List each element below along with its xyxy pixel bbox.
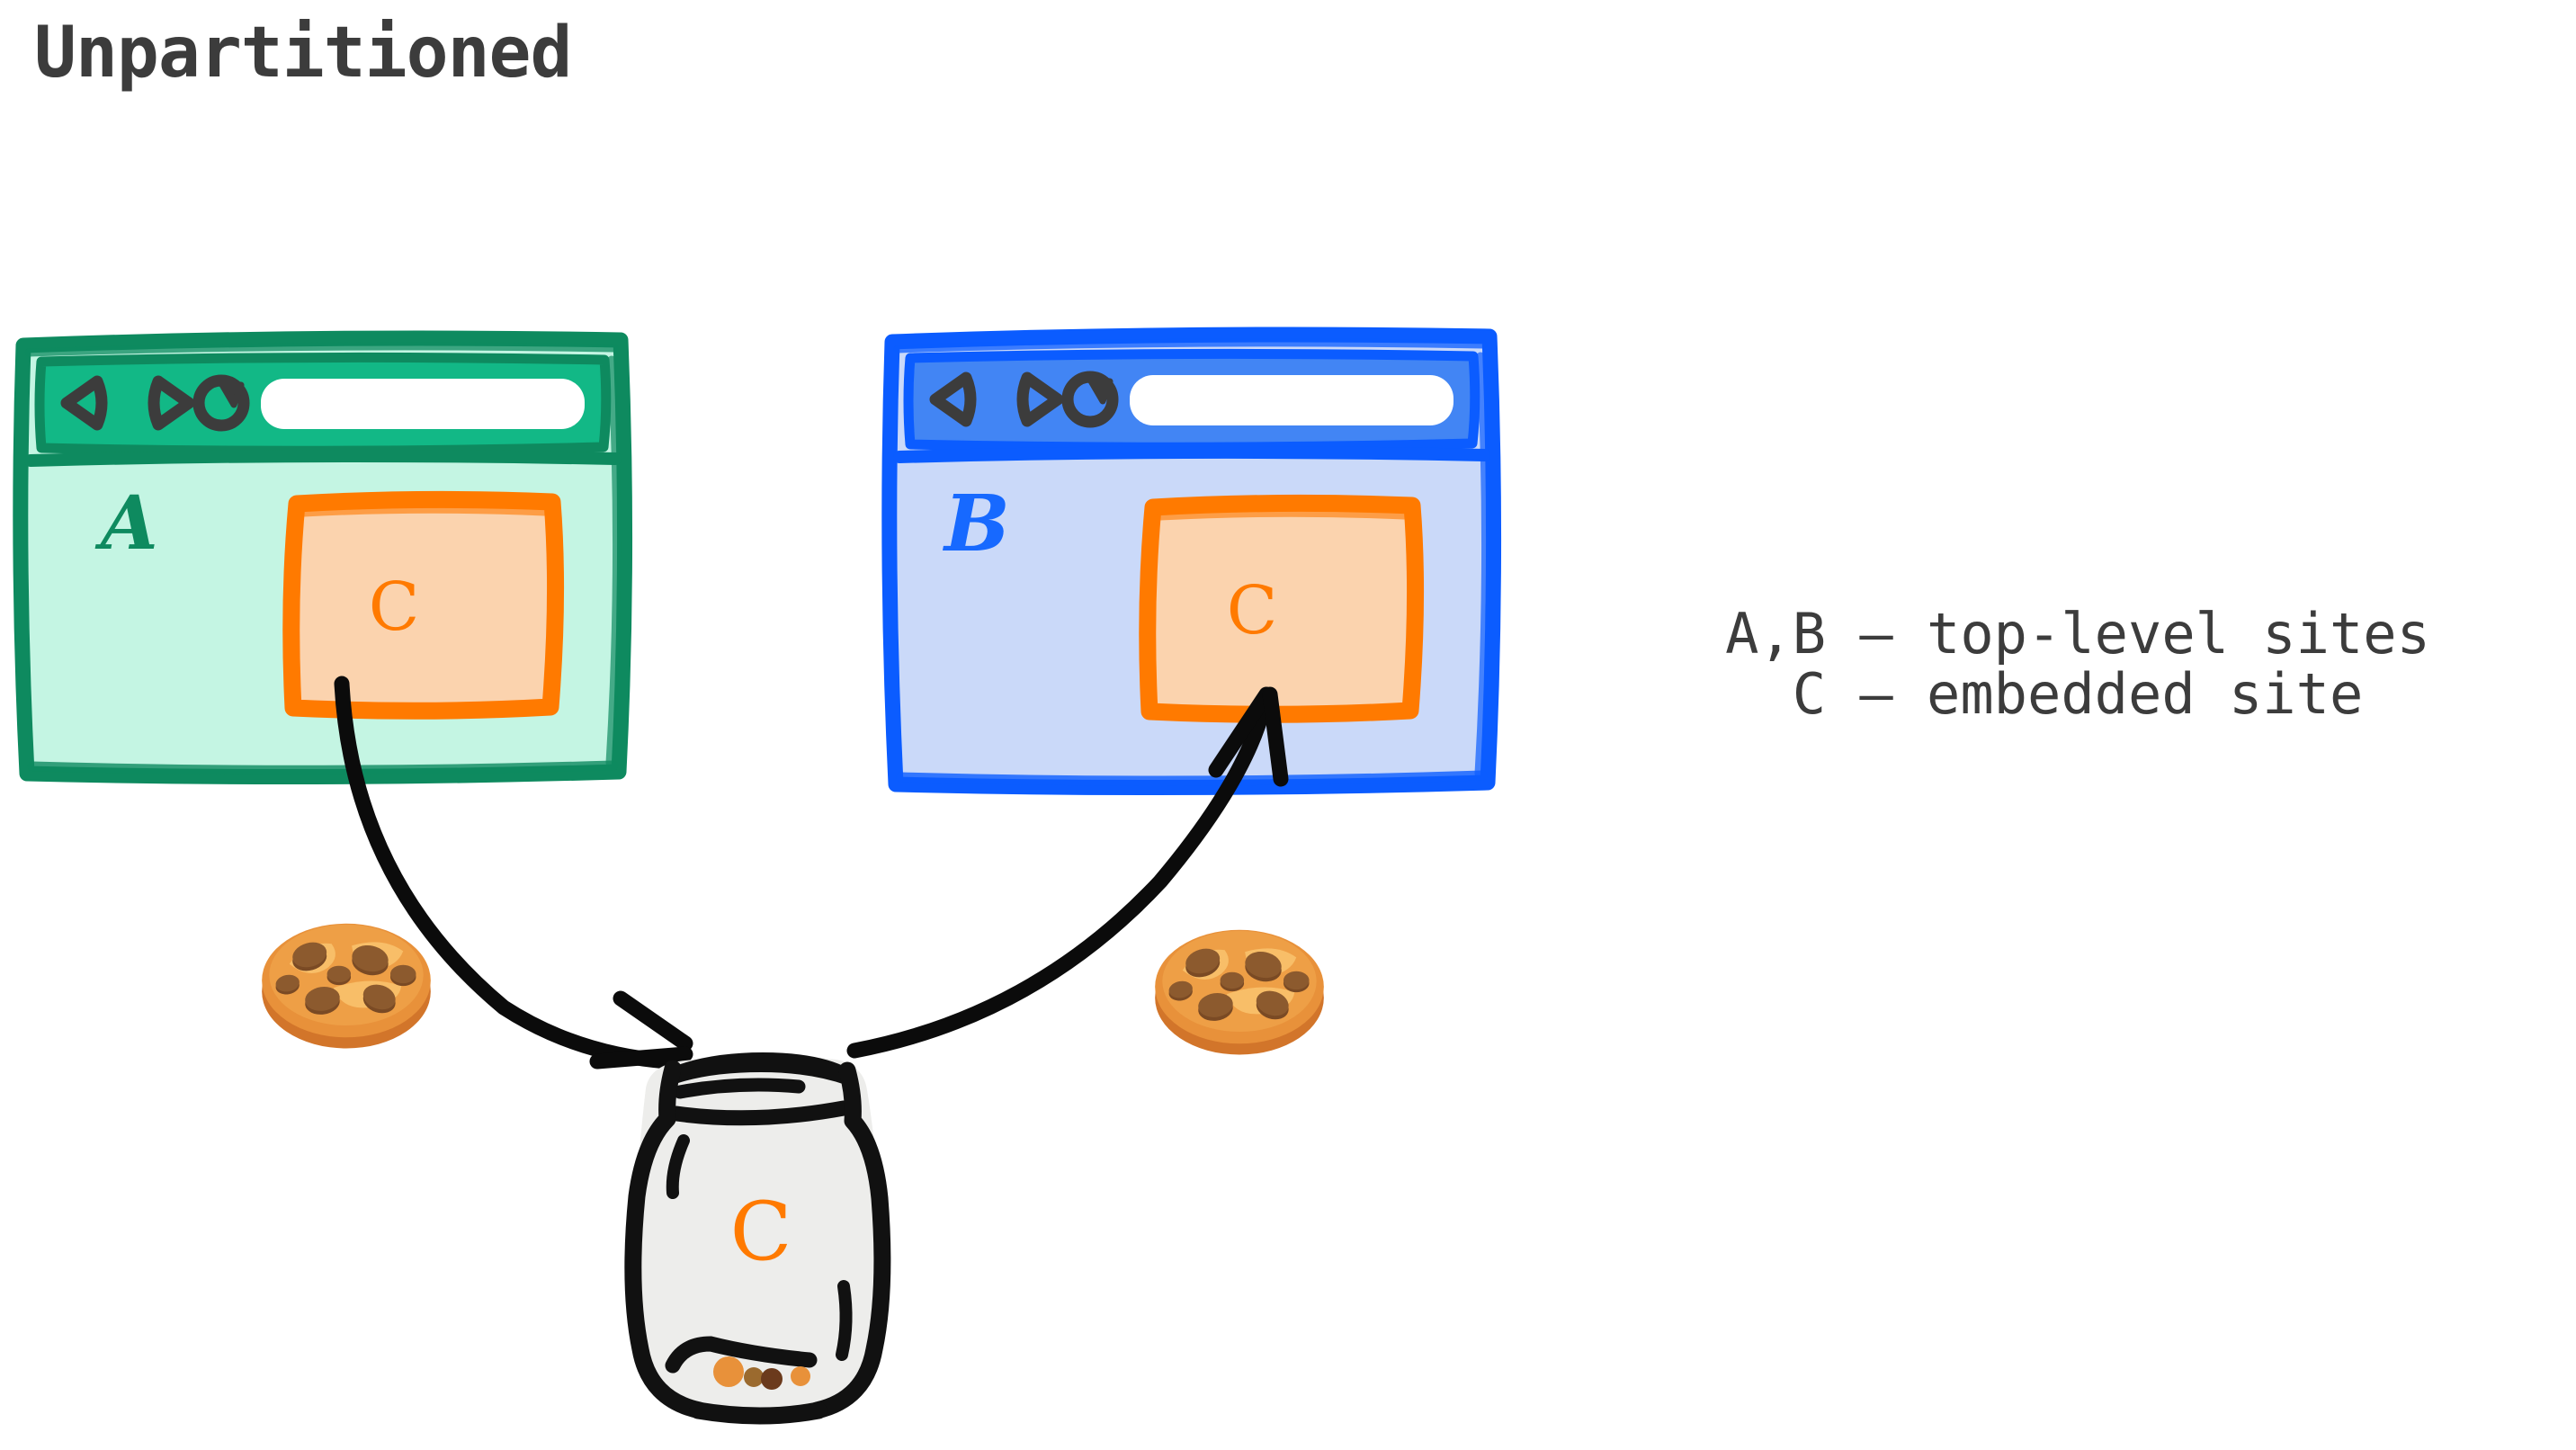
- jar-highlight-right: [842, 1286, 846, 1355]
- jar-crumb-3: [761, 1368, 783, 1390]
- window-b-embedded-frame[interactable]: C: [1148, 503, 1416, 714]
- jar-crumb-1: [713, 1356, 744, 1387]
- page-title: Unpartitioned: [34, 13, 571, 94]
- jar-crumb-4: [791, 1366, 810, 1386]
- window-a-embed-sketch: [304, 509, 544, 513]
- legend-line-top-level: A,B — top-level sites: [1610, 604, 2545, 665]
- window-a-url-bar[interactable]: [261, 379, 585, 429]
- window-b-toolbar-divider: [899, 452, 1484, 457]
- diagram-canvas: Unpartitioned A,B — top-level sites C — …: [0, 0, 2576, 1450]
- window-b-sketch-bottom: [901, 775, 1482, 781]
- jar-thread-1: [680, 1085, 799, 1092]
- window-a-embedded-frame[interactable]: C: [291, 499, 556, 711]
- jar-base: [698, 1410, 818, 1416]
- jar-crumb-2: [744, 1367, 764, 1387]
- window-b-site-label: B: [942, 479, 1010, 569]
- window-b-url-bar[interactable]: [1130, 375, 1453, 425]
- window-a-sketch-bottom: [32, 765, 613, 770]
- window-b-embed-label: C: [1227, 572, 1278, 649]
- window-b-embed-sketch: [1160, 513, 1404, 516]
- window-b-embed-box: [1148, 503, 1416, 714]
- window-a[interactable]: A C: [21, 338, 625, 777]
- window-a-site-label: A: [94, 480, 158, 567]
- window-b[interactable]: B C: [890, 335, 1494, 788]
- legend-line-embedded: C — embedded site: [1610, 665, 2545, 725]
- jar-site-label: C: [730, 1185, 792, 1279]
- window-a-embed-box: [291, 499, 556, 711]
- cookie-jar[interactable]: C: [633, 1052, 882, 1418]
- window-a-embed-label: C: [369, 568, 420, 646]
- window-a-toolbar-divider: [31, 456, 615, 461]
- cookie-left: [262, 924, 431, 1049]
- legend: A,B — top-level sites C — embedded site: [1610, 604, 2545, 725]
- cookie-right: [1155, 930, 1324, 1055]
